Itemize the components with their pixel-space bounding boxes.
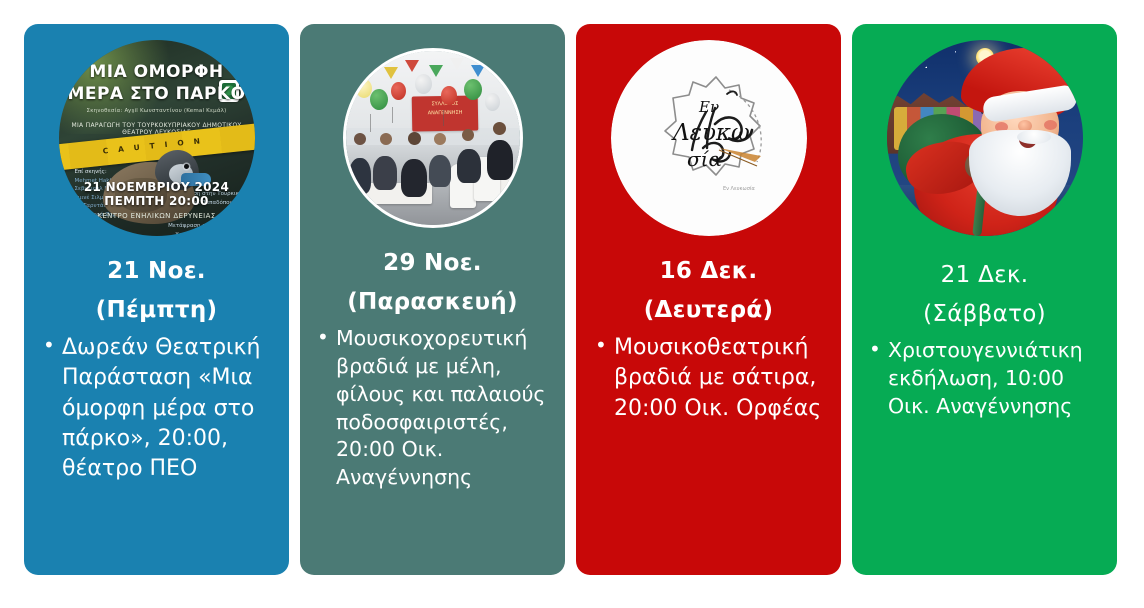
poster-footer-venue: ΚΕΝΤΡΟ ΕΝΗΛΙΚΩΝ ΔΕΡΥΝΕΙΑΣ — [59, 212, 255, 220]
santa-hat-pompom — [1063, 44, 1083, 64]
event-image-party-photo: ΣΥΛΛΟΓΟΣ ΑΝΑΓΕΝΝΗΣΗ — [343, 48, 523, 228]
poster-footer-date: 21 ΝΟΕΜΒΡΙΟΥ 2024 ΠΕΜΠΤΗ 20:00 — [59, 180, 255, 208]
event-date: 21 Δεκ. — [941, 262, 1029, 288]
event-image-logo: Εν Λευκωσία Εν Λευκω σία — [611, 40, 807, 236]
poster-translation-note-2: Μετάφραση στην Ελληνική Χριστίνα Παπαδοπ… — [153, 222, 243, 236]
guest-head — [434, 133, 446, 145]
balloon — [485, 93, 500, 111]
logo-white-circle: Εν Λευκωσία Εν Λευκω σία — [611, 40, 807, 236]
event-image-santa — [887, 40, 1083, 236]
gear-outline-icon: Εν Λευκωσία — [611, 40, 807, 236]
guest-head — [408, 132, 421, 145]
balloon — [464, 79, 482, 100]
guest-silhouette — [429, 155, 451, 187]
guest-silhouette — [373, 156, 397, 190]
event-card-4[interactable]: 21 Δεκ. (Σάββατο) Χριστουγεννιάτικη εκδή… — [852, 24, 1117, 575]
poster-artwork: ΜΙΑ ΟΜΟΡΦΗ ΜΕΡΑ ΣΤΟ ΠΑΡΚΟ Σκηνοθεσία: Ay… — [59, 40, 255, 236]
pennant-flag — [429, 65, 443, 77]
duck-illustration — [101, 124, 205, 224]
event-card-3[interactable]: Εν Λευκωσία Εν Λευκω σία 16 Δεκ. (Δευτερ… — [576, 24, 841, 575]
guest-head — [493, 122, 506, 135]
balloon-string — [392, 107, 393, 123]
event-weekday: (Πέμπτη) — [96, 297, 218, 323]
event-card-2[interactable]: ΣΥΛΛΟΓΟΣ ΑΝΑΓΕΝΝΗΣΗ — [300, 24, 565, 575]
balloon — [370, 89, 388, 110]
event-weekday: (Παρασκευή) — [347, 289, 518, 315]
balloon — [441, 86, 457, 105]
pennant-flag — [450, 58, 464, 70]
events-card-board: ΜΙΑ ΟΜΟΡΦΗ ΜΕΡΑ ΣΤΟ ΠΑΡΚΟ Σκηνοθεσία: Ay… — [0, 0, 1144, 608]
event-details-list: Χριστουγεννιάτικη εκδήλωση, 10:00 Οικ. Α… — [862, 337, 1107, 421]
balloon — [391, 82, 406, 100]
event-details-list: Δωρεάν Θεατρική Παράσταση «Μια όμορφη μέ… — [34, 333, 279, 485]
poster-translation-note-2-sub: Χριστίνα Παπαδοπούλου — [153, 231, 243, 236]
guest-silhouette — [401, 159, 427, 197]
guest-head — [380, 133, 392, 145]
event-card-1[interactable]: ΜΙΑ ΟΜΟΡΦΗ ΜΕΡΑ ΣΤΟ ΠΑΡΚΟ Σκηνοθεσία: Ay… — [24, 24, 289, 575]
santa-artwork — [887, 40, 1083, 236]
event-date: 16 Δεκ. — [660, 258, 758, 284]
event-image-theatre-poster: ΜΙΑ ΟΜΟΡΦΗ ΜΕΡΑ ΣΤΟ ΠΑΡΚΟ Σκηνοθεσία: Ay… — [59, 40, 255, 236]
pennant-flag — [405, 60, 419, 72]
guest-silhouette — [349, 158, 371, 194]
list-item: Χριστουγεννιάτικη εκδήλωση, 10:00 Οικ. Α… — [886, 337, 1105, 421]
guest-silhouette — [457, 149, 481, 183]
event-details-list: Μουσικοχορευτική βραδιά με μέλη, φίλους … — [310, 325, 555, 492]
pennant-flag — [363, 61, 377, 73]
event-weekday: (Δευτερά) — [644, 297, 774, 323]
event-details-list: Μουσικοθεατρική βραδιά με σάτιρα, 20:00 … — [586, 333, 831, 424]
party-photo-artwork: ΣΥΛΛΟΓΟΣ ΑΝΑΓΕΝΝΗΣΗ — [346, 51, 520, 225]
poster-subtitle: Σκηνοθεσία: Ayşil Κωνσταντίνου (Kemal Κε… — [73, 108, 241, 114]
list-item: Μουσικοχορευτική βραδιά με μέλη, φίλους … — [334, 325, 553, 492]
poster-title-line-1: ΜΙΑ ΟΜΟΡΦΗ — [65, 62, 249, 82]
balloon-string — [443, 110, 444, 126]
balloon-string — [370, 114, 371, 132]
duck-eye — [184, 164, 189, 169]
poster-title-line-2: ΜΕΡΑ ΣΤΟ ΠΑΡΚΟ — [65, 84, 249, 104]
list-item: Μουσικοθεατρική βραδιά με σάτιρα, 20:00 … — [612, 333, 829, 424]
pennant-flag — [492, 60, 506, 72]
event-weekday: (Σάββατο) — [923, 301, 1046, 327]
event-date: 21 Νοε. — [107, 258, 206, 284]
pennant-flag — [471, 65, 485, 77]
event-date: 29 Νοε. — [383, 250, 482, 276]
list-item: Δωρεάν Θεατρική Παράσταση «Μια όμορφη μέ… — [60, 333, 277, 485]
guest-head — [354, 133, 366, 145]
pennant-flag — [384, 67, 398, 79]
logo-footnote: Εν Λευκωσία — [723, 185, 756, 192]
guest-silhouette — [487, 140, 513, 180]
guest-head — [462, 129, 474, 141]
